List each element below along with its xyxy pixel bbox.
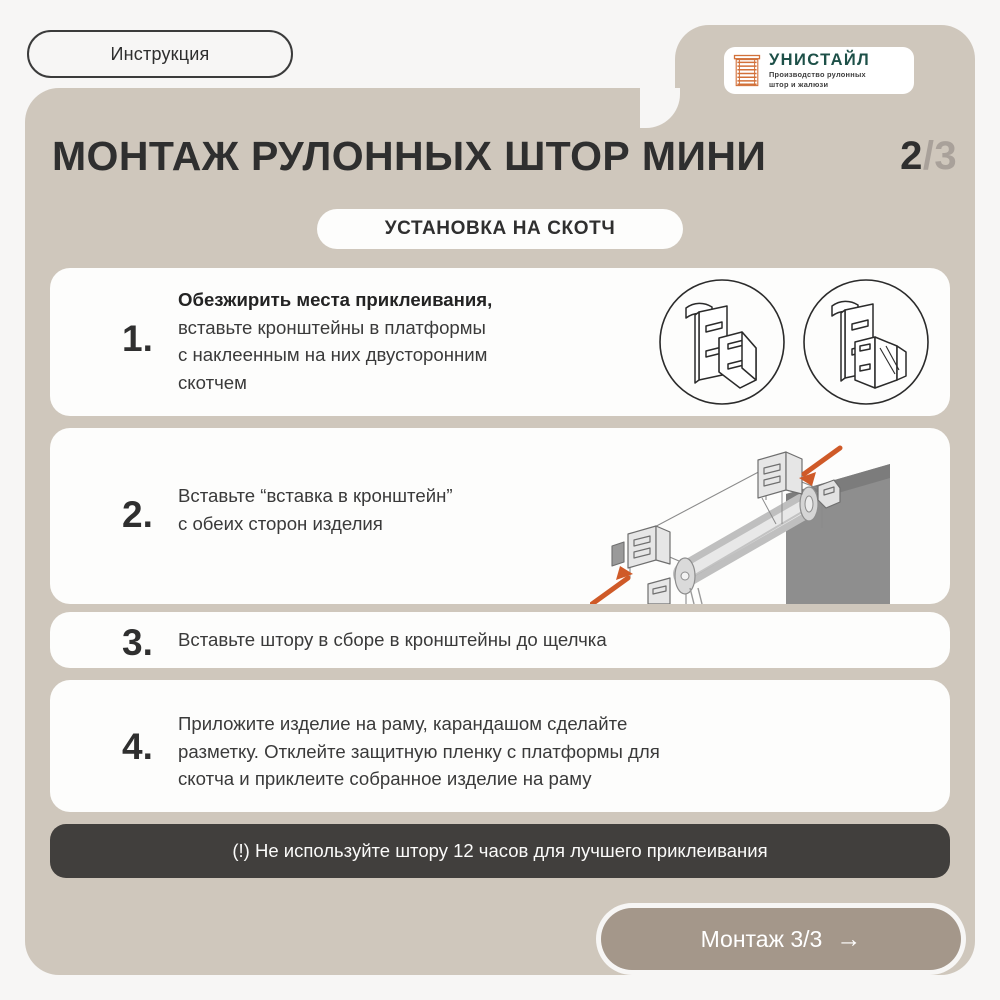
bracket-mounted-on-platform-icon [800,276,932,408]
section-heading: УСТАНОВКА НА СКОТЧ [317,209,683,249]
step-2-illustration [590,428,950,604]
brand-logo-card: УНИСТАЙЛ Производство рулонных штор и жа… [724,47,914,94]
brand-tagline-line-2: штор и жалюзи [769,80,870,89]
page-counter-current: 2 [900,134,923,179]
step-card-3: 3. Вставьте штору в сборе в кронштейны д… [50,612,950,668]
arrow-indicator-bottom [592,566,633,604]
step-1-line-2: вставьте кронштейны в платформы [178,314,598,342]
instruction-badge: Инструкция [27,30,293,78]
section-heading-label: УСТАНОВКА НА СКОТЧ [385,218,616,240]
step-1-lead: Обезжирить места приклеивания, [178,286,598,314]
step-2-line-2: с обеих сторон изделия [178,510,598,538]
warning-banner: (!) Не используйте штору 12 часов для лу… [50,824,950,878]
page-counter: 2/3 [900,134,957,179]
platform-with-tape-liner-icon [656,276,788,408]
step-number-4: 4. [122,728,153,765]
next-page-button[interactable]: Монтаж 3/3 → [601,908,961,970]
step-number-1: 1. [122,320,153,357]
step-text-4: Приложите изделие на раму, карандашом сд… [178,710,818,793]
warning-banner-text: (!) Не используйте штору 12 часов для лу… [232,840,767,862]
step-3-line-1: Вставьте штору в сборе в кронштейны до щ… [178,626,878,654]
step-number-3: 3. [122,624,153,661]
roller-blind-icon [732,54,762,88]
page-counter-total: /3 [923,134,957,179]
step-text-3: Вставьте штору в сборе в кронштейны до щ… [178,626,878,654]
step-card-2: 2. Вставьте “вставка в кронштейн” с обеи… [50,428,950,604]
page-title-text: МОНТАЖ РУЛОННЫХ ШТОР МИНИ [52,133,766,180]
next-page-label: Монтаж 3/3 [701,926,823,953]
step-card-4: 4. Приложите изделие на раму, карандашом… [50,680,950,812]
step-4-line-2: разметку. Отклейте защитную пленку с пла… [178,738,818,766]
page-title: МОНТАЖ РУЛОННЫХ ШТОР МИНИ 2/3 [52,128,957,184]
roller-blind-assembly-icon [590,428,950,604]
step-card-1: 1. Обезжирить места приклеивания, вставь… [50,268,950,416]
step-1-line-4: скотчем [178,369,598,397]
step-4-line-3: скотча и приклеите собранное изделие на … [178,765,818,793]
arrow-right-icon: → [836,927,861,952]
step-text-2: Вставьте “вставка в кронштейн” с обеих с… [178,482,598,537]
instruction-badge-label: Инструкция [111,44,210,65]
step-text-1: Обезжирить места приклеивания, вставьте … [178,286,598,396]
brand-tagline-line-1: Производство рулонных [769,70,870,79]
step-4-line-1: Приложите изделие на раму, карандашом сд… [178,710,818,738]
beige-inverted-corner [640,88,680,128]
step-1-illustrations [656,276,932,408]
step-number-2: 2. [122,496,153,533]
step-1-line-3: с наклеенным на них двусторонним [178,341,598,369]
step-2-line-1: Вставьте “вставка в кронштейн” [178,482,598,510]
brand-logo-text: УНИСТАЙЛ Производство рулонных штор и жа… [769,52,870,89]
brand-name: УНИСТАЙЛ [769,52,870,69]
